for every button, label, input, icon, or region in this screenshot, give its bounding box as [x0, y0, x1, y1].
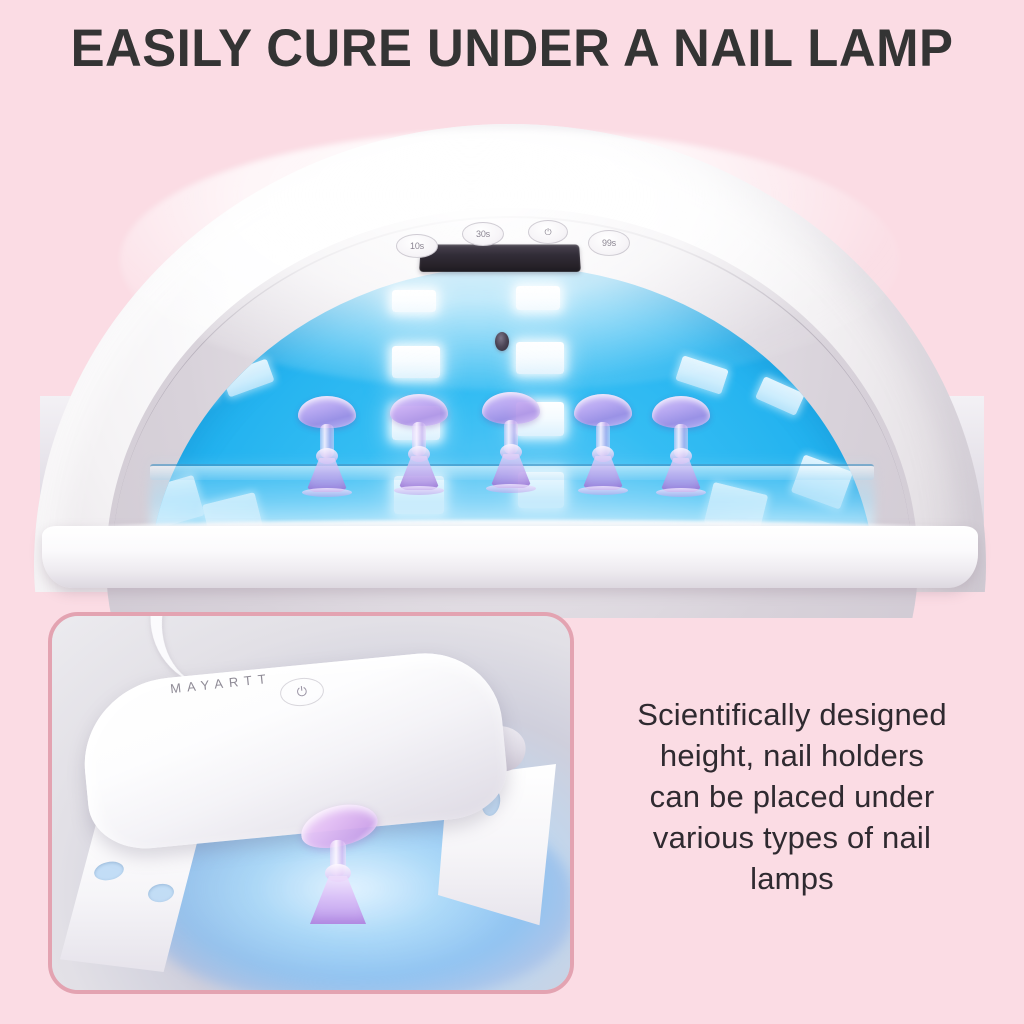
timer-99s-button[interactable]: 99s [588, 230, 630, 256]
mini-lamp-photo-frame: MAYARTT ⏻ [48, 612, 574, 994]
mini-lamp-photo: MAYARTT ⏻ [52, 616, 570, 990]
nail-holder-base [486, 484, 536, 493]
caption-line: various types of nail [592, 817, 992, 858]
nail-holder-base [578, 486, 628, 495]
timer-30s-button[interactable]: 30s [462, 222, 504, 246]
nail-holder-base [394, 486, 444, 495]
page-title: EASILY CURE UNDER A NAIL LAMP [20, 18, 1003, 80]
lamp-base-tray [42, 526, 978, 588]
feature-caption: Scientifically designed height, nail hol… [592, 694, 992, 899]
caption-line: height, nail holders [592, 735, 992, 776]
caption-line: can be placed under [592, 776, 992, 817]
caption-line: Scientifically designed [592, 694, 992, 735]
power-button[interactable]: ⏻ [528, 220, 568, 244]
timer-10s-button[interactable]: 10s [396, 234, 438, 258]
nail-holder-base [302, 488, 352, 497]
caption-line: lamps [592, 858, 992, 899]
hero-product-photo: 10s 30s ⏻ 99s [0, 96, 1024, 596]
lcd-display [419, 244, 581, 271]
motion-sensor-icon [495, 332, 509, 351]
nail-holder-base [656, 488, 706, 497]
